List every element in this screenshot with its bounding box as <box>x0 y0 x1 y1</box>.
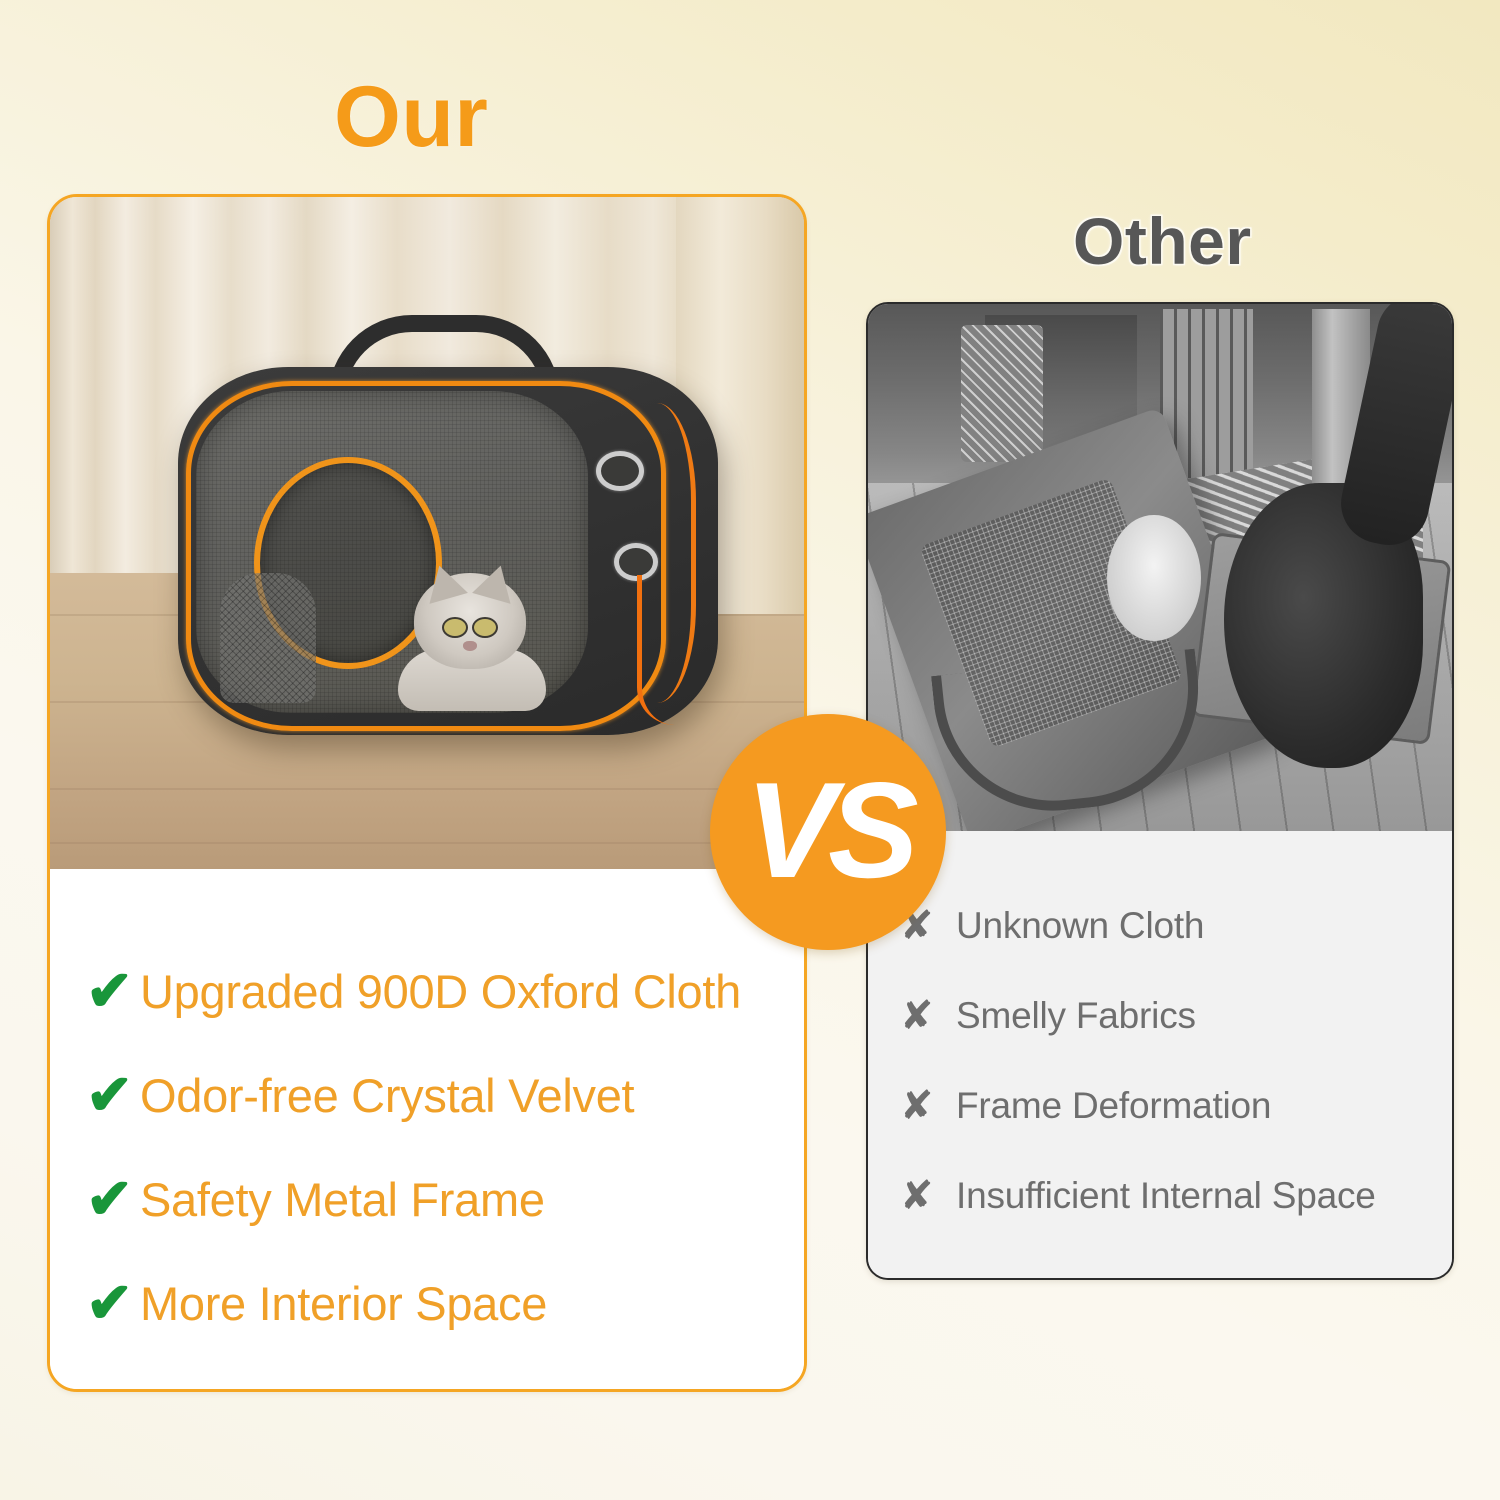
cat-eye-right <box>472 617 498 638</box>
our-feature-list: ✔ Upgraded 900D Oxford Cloth ✔ Odor-free… <box>50 869 804 1389</box>
other-product-photo <box>868 304 1452 831</box>
our-product-panel: ✔ Upgraded 900D Oxford Cloth ✔ Odor-free… <box>47 194 807 1392</box>
list-item: ✔ More Interior Space <box>86 1259 804 1347</box>
comparison-infographic: Our Other <box>0 0 1500 1500</box>
cat-head <box>414 573 526 669</box>
other-drawback-label: Smelly Fabrics <box>956 995 1196 1037</box>
air-grommet <box>596 451 644 491</box>
other-drawback-list: ✘ Unknown Cloth ✘ Smelly Fabrics ✘ Frame… <box>868 831 1452 1278</box>
our-feature-label: Odor-free Crystal Velvet <box>140 1068 634 1123</box>
x-mark-icon: ✘ <box>900 1176 956 1216</box>
our-product-photo <box>50 197 804 869</box>
carrier-side-pocket <box>637 575 712 725</box>
carrier-mesh-pocket <box>220 573 316 703</box>
cat-nose <box>463 641 477 651</box>
check-icon: ✔ <box>86 1067 140 1123</box>
cat-ear-right <box>472 560 520 604</box>
cat-inside-carrier <box>396 563 548 711</box>
white-cat <box>1107 515 1200 641</box>
x-mark-icon: ✘ <box>900 996 956 1036</box>
vs-label: VS <box>745 762 910 898</box>
cat-ear-left <box>420 560 468 604</box>
background-basket <box>961 325 1043 462</box>
list-item: ✘ Unknown Cloth <box>900 895 1452 957</box>
x-mark-icon: ✘ <box>900 1086 956 1126</box>
carrier-body <box>178 367 718 735</box>
list-item: ✘ Insufficient Internal Space <box>900 1165 1452 1227</box>
check-icon: ✔ <box>86 1275 140 1331</box>
other-drawback-label: Insufficient Internal Space <box>956 1175 1376 1217</box>
list-item: ✘ Frame Deformation <box>900 1075 1452 1137</box>
list-item: ✔ Upgraded 900D Oxford Cloth <box>86 947 804 1035</box>
list-item: ✔ Safety Metal Frame <box>86 1155 804 1243</box>
floorboard-seam <box>50 842 804 844</box>
our-feature-label: Upgraded 900D Oxford Cloth <box>140 964 741 1019</box>
other-product-panel: ✘ Unknown Cloth ✘ Smelly Fabrics ✘ Frame… <box>866 302 1454 1280</box>
other-drawback-label: Unknown Cloth <box>956 905 1204 947</box>
our-feature-label: Safety Metal Frame <box>140 1172 545 1227</box>
pet-carrier <box>178 315 718 735</box>
cat-eye-left <box>442 617 468 638</box>
list-item: ✘ Smelly Fabrics <box>900 985 1452 1047</box>
our-feature-label: More Interior Space <box>140 1276 547 1331</box>
check-icon: ✔ <box>86 963 140 1019</box>
list-item: ✔ Odor-free Crystal Velvet <box>86 1051 804 1139</box>
other-drawback-label: Frame Deformation <box>956 1085 1271 1127</box>
vs-badge: VS <box>710 714 946 950</box>
floorboard-seam <box>50 788 804 790</box>
our-heading: Our <box>334 74 488 160</box>
other-heading: Other <box>1073 208 1252 274</box>
check-icon: ✔ <box>86 1171 140 1227</box>
